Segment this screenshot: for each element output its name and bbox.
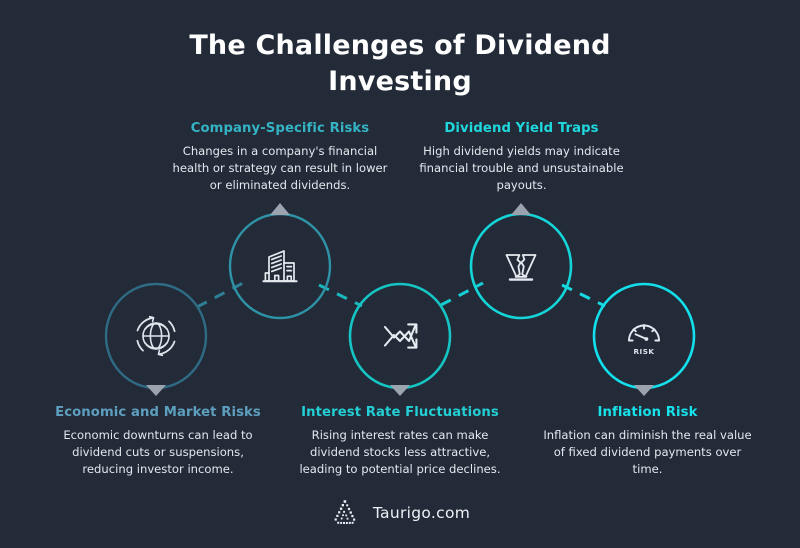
node-company-specific-risks[interactable] — [230, 203, 330, 318]
connector-3 — [441, 283, 483, 305]
risk-gauge-label: RISK — [634, 347, 655, 356]
globe-refresh-icon — [137, 317, 174, 356]
heading-company-specific-risks: Company-Specific Risks — [168, 121, 392, 136]
body-economic-and-market-risks: Economic downturns can lead to dividend … — [52, 427, 264, 478]
text-block-interest-rate-fluctuations: Interest Rate Fluctuations Rising intere… — [296, 405, 504, 478]
node-circle-interest[interactable] — [350, 284, 450, 388]
body-dividend-yield-traps: High dividend yields may indicate financ… — [414, 143, 629, 194]
brand-name: Taurigo.com — [373, 504, 470, 522]
pointer-triangle-up-yield-traps — [511, 203, 531, 215]
pointer-triangle-down-economic — [146, 385, 166, 396]
node-circle-yield-traps[interactable] — [471, 214, 571, 318]
connector-4 — [562, 285, 605, 306]
risk-gauge-icon — [629, 325, 659, 341]
heading-economic-and-market-risks: Economic and Market Risks — [52, 405, 264, 420]
node-circle-inflation[interactable] — [594, 284, 694, 388]
heading-interest-rate-fluctuations: Interest Rate Fluctuations — [296, 405, 504, 420]
body-inflation-risk: Inflation can diminish the real value of… — [540, 427, 755, 478]
node-inflation-risk[interactable]: RISK — [594, 284, 694, 396]
heading-inflation-risk: Inflation Risk — [540, 405, 755, 420]
heading-dividend-yield-traps: Dividend Yield Traps — [414, 121, 629, 136]
body-interest-rate-fluctuations: Rising interest rates can make dividend … — [296, 427, 504, 478]
connector-1 — [197, 283, 243, 307]
crossing-arrows-volatility-icon — [385, 324, 416, 347]
body-company-specific-risks: Changes in a company's financial health … — [168, 143, 392, 194]
node-interest-rate-fluctuations[interactable] — [350, 284, 450, 396]
pointer-triangle-up-company — [270, 203, 290, 215]
dotted-triangle-logo-icon — [330, 498, 360, 528]
text-block-company-specific-risks: Company-Specific Risks Changes in a comp… — [168, 121, 392, 194]
office-building-icon — [263, 251, 296, 281]
node-dividend-yield-traps[interactable] — [471, 203, 571, 318]
connector-group — [197, 283, 605, 307]
broken-trophy-icon — [507, 255, 536, 280]
pointer-triangle-down-interest — [390, 385, 410, 396]
node-circle-company[interactable] — [230, 214, 330, 318]
pointer-triangle-down-inflation — [634, 385, 654, 396]
text-block-dividend-yield-traps: Dividend Yield Traps High dividend yield… — [414, 121, 629, 194]
text-block-economic-and-market-risks: Economic and Market Risks Economic downt… — [52, 405, 264, 478]
footer: Taurigo.com — [0, 498, 800, 528]
node-economic-and-market-risks[interactable] — [106, 284, 206, 396]
infographic-canvas: The Challenges of Dividend Investing — [0, 0, 800, 548]
text-block-inflation-risk: Inflation Risk Inflation can diminish th… — [540, 405, 755, 478]
